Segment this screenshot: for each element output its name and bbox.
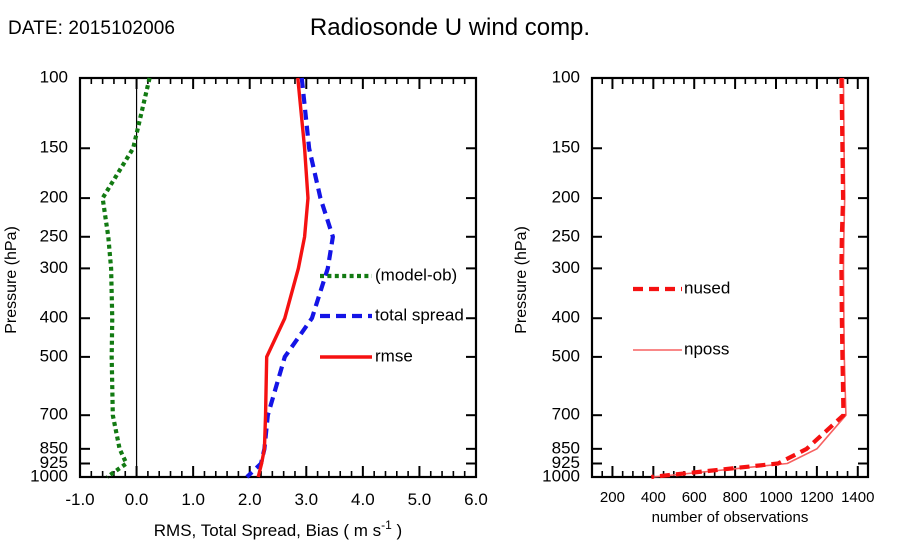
right-y-axis-title: Pressure (hPa) — [513, 226, 530, 334]
y-tick-label: 250 — [552, 226, 580, 245]
y-tick-label: 400 — [552, 308, 580, 327]
legend-label-nused: nused — [684, 278, 730, 297]
legend-label-rmse: rmse — [375, 346, 413, 365]
x-tick-label: 5.0 — [408, 490, 432, 509]
right-y-tick-labels: 1001502002503004005007008509251000 — [542, 67, 580, 485]
left-y-tick-labels: 1001502002503004005007008509251000 — [30, 67, 68, 485]
x-tick-label: 1.0 — [181, 490, 205, 509]
x-tick-label: 6.0 — [464, 490, 488, 509]
x-tick-label: 1000 — [759, 489, 792, 506]
x-tick-label: -1.0 — [65, 490, 94, 509]
x-tick-label: 800 — [723, 489, 748, 506]
x-tick-label: 4.0 — [351, 490, 375, 509]
y-tick-label: 150 — [552, 138, 580, 157]
left-x-axis-title: RMS, Total Spread, Bias ( m s-1 ) — [154, 518, 402, 540]
y-tick-label: 1000 — [542, 466, 580, 485]
y-tick-label: 200 — [552, 188, 580, 207]
x-tick-label: 3.0 — [294, 490, 318, 509]
x-tick-label: 200 — [600, 489, 625, 506]
y-tick-label: 100 — [552, 67, 580, 86]
left-panel: 1001502002503004005007008509251000 -1.00… — [0, 0, 500, 560]
legend-label-nposs: nposs — [684, 339, 729, 358]
x-tick-label: 400 — [641, 489, 666, 506]
y-tick-label: 700 — [552, 405, 580, 424]
left-legend: (model-ob)total spreadrmse — [320, 265, 464, 365]
x-tick-label: 600 — [682, 489, 707, 506]
y-tick-label: 250 — [40, 226, 68, 245]
y-tick-label: 200 — [40, 188, 68, 207]
right-data-curves — [651, 78, 846, 477]
y-tick-label: 1000 — [30, 466, 68, 485]
right-panel-svg: 1001502002503004005007008509251000 20040… — [500, 0, 900, 560]
left-y-axis-title: Pressure (hPa) — [3, 226, 20, 334]
y-tick-label: 400 — [40, 308, 68, 327]
y-tick-label: 500 — [552, 346, 580, 365]
right-panel: 1001502002503004005007008509251000 20040… — [500, 0, 900, 560]
y-tick-label: 150 — [40, 138, 68, 157]
radiosonde-figure: DATE: 2015102006 Radiosonde U wind comp.… — [0, 0, 900, 560]
x-tick-label: 1200 — [800, 489, 833, 506]
left-panel-svg: 1001502002503004005007008509251000 -1.00… — [0, 0, 500, 560]
right-legend: nusednposs — [633, 278, 730, 358]
x-tick-label: 2.0 — [238, 490, 262, 509]
x-tick-label: 0.0 — [125, 490, 149, 509]
y-tick-label: 500 — [40, 346, 68, 365]
y-tick-label: 100 — [40, 67, 68, 86]
y-tick-label: 300 — [40, 258, 68, 277]
x-tick-label: 1400 — [841, 489, 874, 506]
right-x-tick-labels: 200400600800100012001400 — [600, 489, 875, 506]
left-x-tick-labels: -1.00.01.02.03.04.05.06.0 — [65, 490, 487, 509]
legend-label-modelob: (model-ob) — [375, 265, 457, 284]
y-tick-label: 700 — [40, 405, 68, 424]
legend-label-totalspread: total spread — [375, 305, 464, 324]
y-tick-label: 300 — [552, 258, 580, 277]
right-x-axis-title: number of observations — [652, 509, 809, 526]
